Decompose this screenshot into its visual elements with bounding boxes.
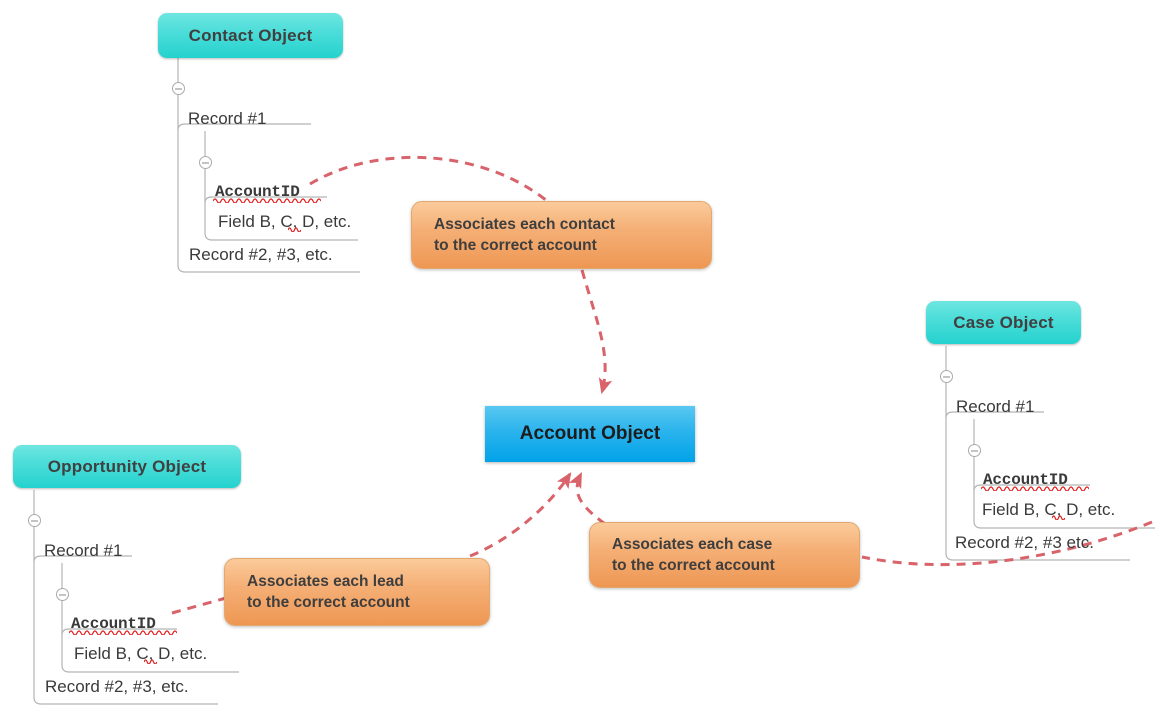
callout-contact-line-1: Associates each contact xyxy=(434,214,693,235)
opportunity-record-1[interactable]: Record #1 xyxy=(44,542,122,559)
callout-contact[interactable]: Associates each contact to the correct a… xyxy=(411,201,712,269)
collapse-toggle-case-records[interactable] xyxy=(940,370,953,383)
connector-layer xyxy=(0,0,1166,717)
contact-more-records[interactable]: Record #2, #3, etc. xyxy=(189,246,333,263)
spellcheck-underline-icon xyxy=(144,658,157,664)
case-more-records[interactable]: Record #2, #3 etc. xyxy=(955,534,1094,551)
central-node-account-label: Account Object xyxy=(520,423,660,445)
root-node-case[interactable]: Case Object xyxy=(926,301,1081,344)
callout-case[interactable]: Associates each case to the correct acco… xyxy=(589,522,860,588)
callout-lead-line-1: Associates each lead xyxy=(247,571,471,592)
callout-lead[interactable]: Associates each lead to the correct acco… xyxy=(224,558,490,626)
connector-lead-to-account xyxy=(470,474,570,556)
opportunity-fields[interactable]: Field B, C, D, etc. xyxy=(74,645,207,662)
callout-case-line-1: Associates each case xyxy=(612,534,841,555)
mindmap-canvas: Contact Object Record #1 AccountID Field… xyxy=(0,0,1166,717)
root-node-opportunity-label: Opportunity Object xyxy=(48,457,206,477)
case-record-1[interactable]: Record #1 xyxy=(956,398,1034,415)
spellcheck-underline-icon xyxy=(213,197,321,203)
collapse-toggle-opportunity-records[interactable] xyxy=(28,514,41,527)
opportunity-more-records[interactable]: Record #2, #3, etc. xyxy=(45,678,189,695)
root-node-case-label: Case Object xyxy=(953,313,1053,333)
spellcheck-underline-icon xyxy=(69,629,177,635)
contact-fields[interactable]: Field B, C, D, etc. xyxy=(218,213,351,230)
central-node-account[interactable]: Account Object xyxy=(485,406,695,462)
collapse-toggle-contact-fields[interactable] xyxy=(199,156,212,169)
contact-record-1[interactable]: Record #1 xyxy=(188,110,266,127)
collapse-toggle-opportunity-fields[interactable] xyxy=(56,588,69,601)
case-fields[interactable]: Field B, C, D, etc. xyxy=(982,501,1115,518)
collapse-toggle-case-fields[interactable] xyxy=(968,444,981,457)
connector-opportunity-accountid xyxy=(172,598,226,613)
collapse-toggle-contact-records[interactable] xyxy=(172,82,185,95)
spellcheck-underline-icon xyxy=(288,226,301,232)
callout-contact-line-2: to the correct account xyxy=(434,235,693,256)
callout-case-line-2: to the correct account xyxy=(612,555,841,576)
root-node-contact-label: Contact Object xyxy=(189,26,313,46)
connector-case-to-account xyxy=(577,474,605,524)
root-node-contact[interactable]: Contact Object xyxy=(158,13,343,58)
connector-contact-to-account xyxy=(582,270,605,392)
connector-contact-accountid xyxy=(310,157,553,206)
callout-lead-line-2: to the correct account xyxy=(247,592,471,613)
root-node-opportunity[interactable]: Opportunity Object xyxy=(13,445,241,488)
spellcheck-underline-icon xyxy=(981,485,1089,491)
spellcheck-underline-icon xyxy=(1052,514,1065,520)
